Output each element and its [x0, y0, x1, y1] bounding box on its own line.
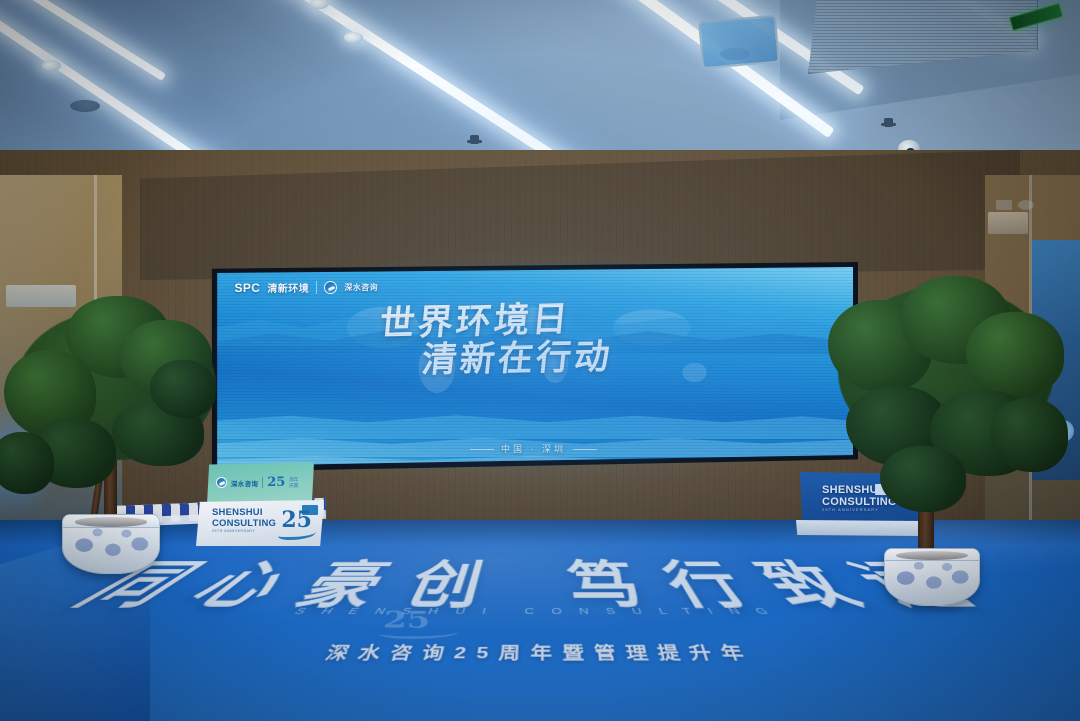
- leaf-circle-icon: [216, 477, 227, 488]
- headline-line-2: 清新在行动: [420, 340, 614, 380]
- podium-right-subline: 25TH ANNIVERSARY: [822, 508, 897, 512]
- podium-right-base: [796, 520, 924, 536]
- sprinkler-head: [470, 135, 479, 144]
- foliage-cluster: [150, 360, 216, 418]
- downlight: [42, 60, 61, 71]
- leaf-circle-icon: [324, 281, 337, 294]
- headline-line-1: 世界环境日: [378, 302, 572, 342]
- pot-blue-pattern: [885, 549, 979, 605]
- screen-logo-bar: SPC 清新环境 深水咨询: [234, 280, 377, 295]
- podium-left-subline: 25TH ANNIVERSARY: [212, 529, 276, 533]
- subtitle-dash-right: [573, 449, 597, 450]
- screen-subtitle: 中国 · 深圳: [214, 442, 853, 455]
- subtitle-text: 中国 · 深圳: [501, 444, 566, 454]
- porcelain-pot: [62, 514, 160, 574]
- screen-headline: 世界环境日 清新在行动: [380, 304, 802, 378]
- logo-divider: [316, 281, 317, 294]
- podium-left-brand-cn: 深水咨询: [231, 478, 258, 488]
- spc-logo-cn: 清新环境: [267, 280, 309, 295]
- foliage-cluster: [990, 398, 1068, 472]
- porcelain-pot: [884, 548, 980, 606]
- foliage-cluster: [966, 312, 1064, 396]
- right-wall-plaque: [996, 200, 1012, 210]
- spc-logo-text: SPC: [234, 281, 260, 295]
- podium-left-line2: CONSULTING: [212, 519, 276, 530]
- ceiling-speaker: [70, 100, 100, 112]
- downlight: [344, 32, 363, 43]
- right-wall-sign: [988, 212, 1028, 234]
- foliage-cluster: [0, 432, 54, 494]
- event-lobby-photo: SPC 清新环境 深水咨询 世界环境日 清新在行动 中国 · 深圳 同心豪创 笃…: [0, 0, 1080, 721]
- subtitle-dash-left: [470, 449, 494, 450]
- partner-logo-cn: 深水咨询: [344, 282, 378, 293]
- podium-left-swoosh: [278, 528, 316, 540]
- podium-left-base-panel: SHENSHUI CONSULTING 25TH ANNIVERSARY 25: [196, 500, 324, 546]
- sprinkler-head: [884, 118, 893, 127]
- led-video-wall[interactable]: SPC 清新环境 深水咨询 世界环境日 清新在行动 中国 · 深圳: [214, 266, 853, 467]
- podium-left-base-text: SHENSHUI CONSULTING 25TH ANNIVERSARY: [212, 508, 276, 533]
- podium-left-anniversary-number: 25: [267, 475, 285, 490]
- podium-left-brand-row: 深水咨询 25 周年 庆典: [216, 475, 298, 490]
- podium-left-anniversary-note: 周年 庆典: [289, 477, 298, 488]
- podium-left-top-panel: 深水咨询 25 周年 庆典: [207, 462, 314, 504]
- podium-left-divider: [262, 477, 263, 488]
- foliage-cluster: [880, 446, 966, 512]
- ac-diffuser: [698, 15, 780, 70]
- pot-blue-pattern: [63, 515, 159, 573]
